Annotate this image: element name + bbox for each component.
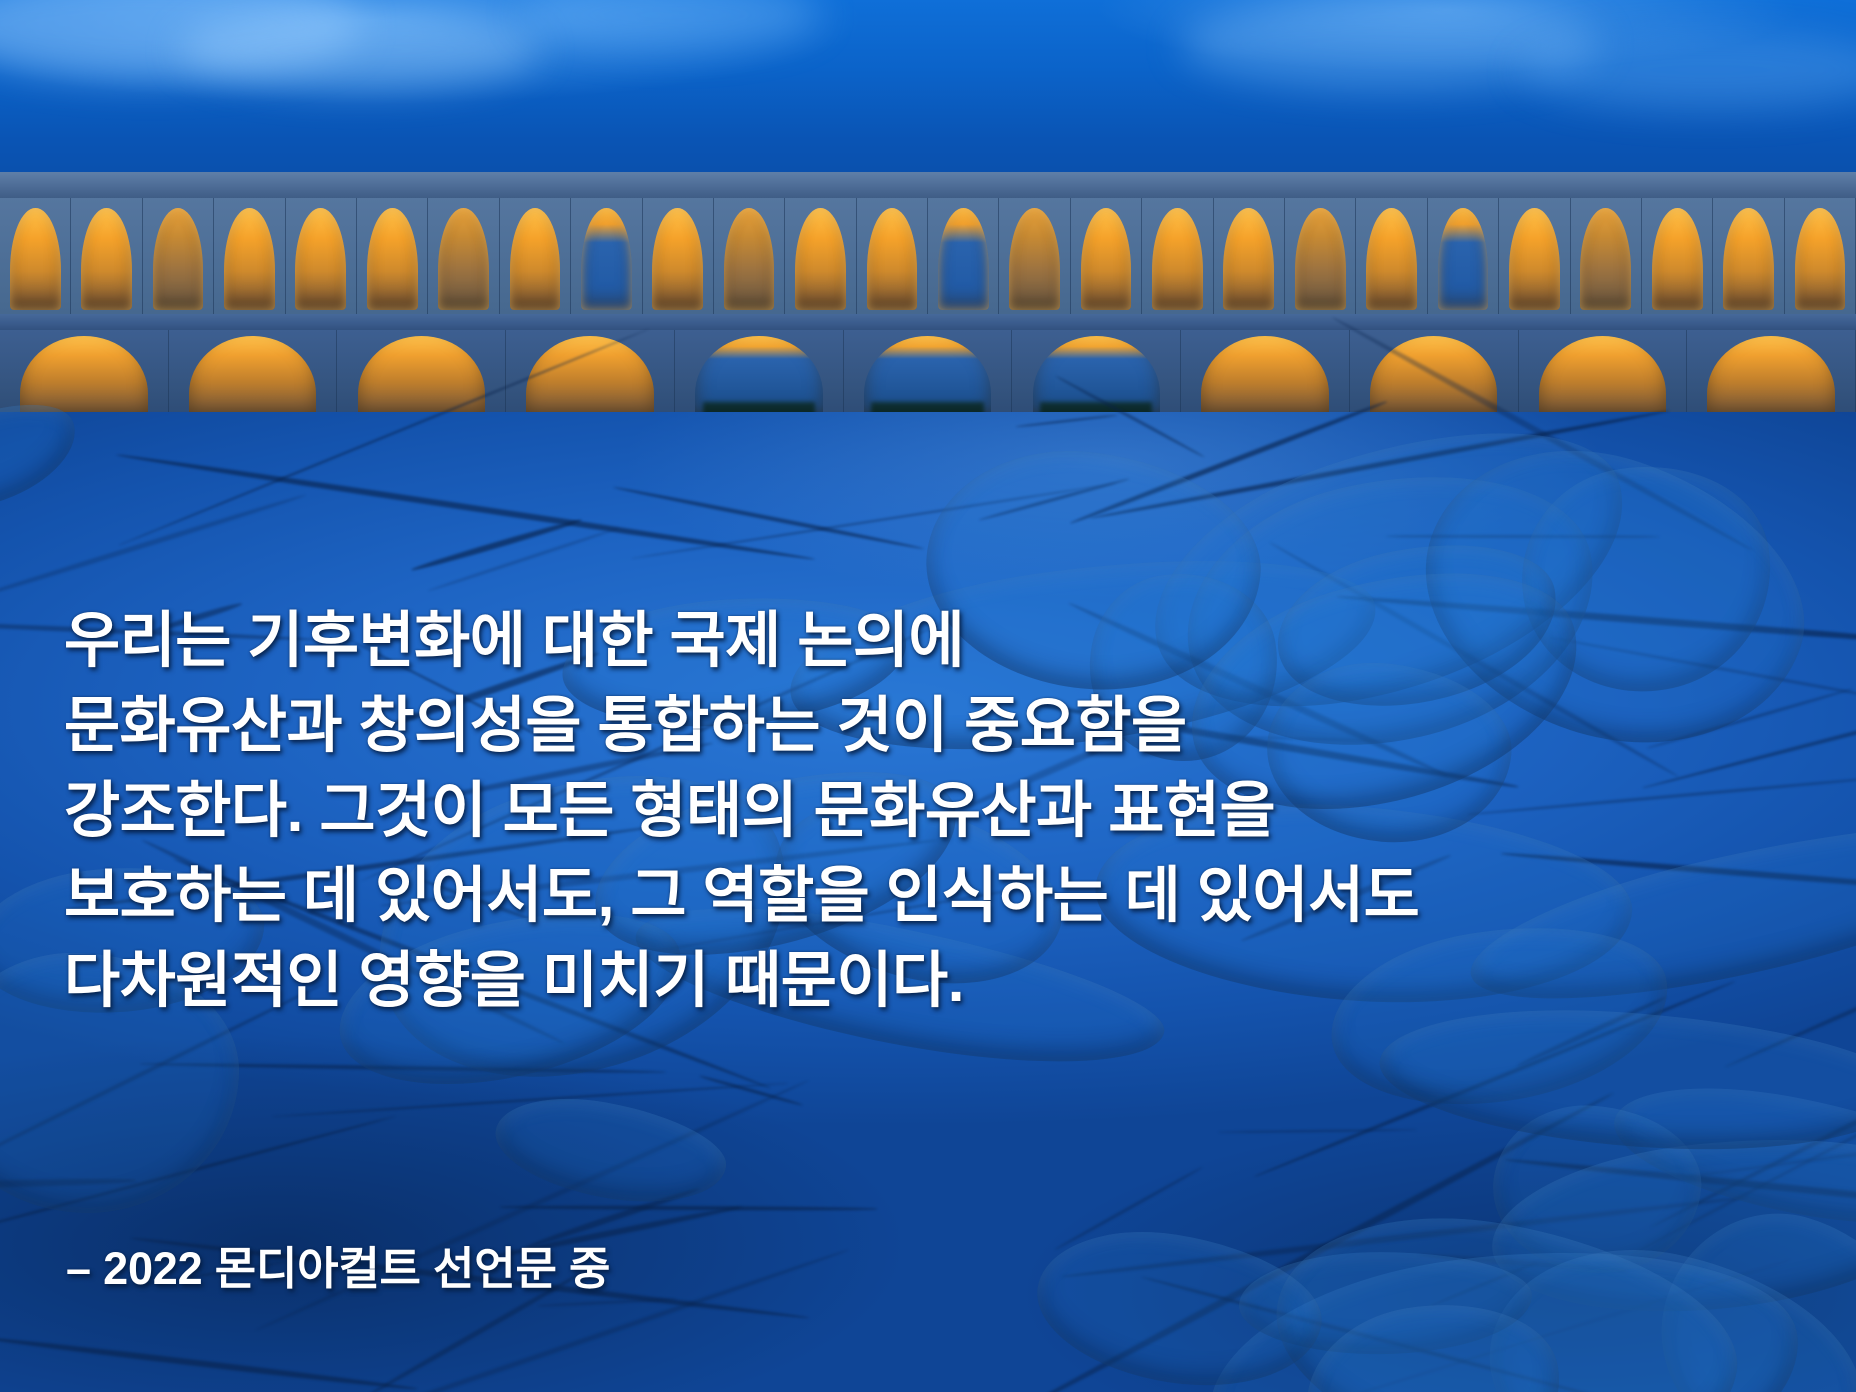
arcade-bay <box>1713 198 1784 314</box>
arcade-bay <box>1356 198 1427 314</box>
bridge-pier <box>337 330 506 424</box>
pointed-arch-opening <box>695 336 822 424</box>
pointed-arch-opening <box>358 336 485 424</box>
bridge-pier <box>844 330 1013 424</box>
pointed-arch-niche <box>1438 208 1489 310</box>
pointed-arch-opening <box>864 336 991 424</box>
arcade-bay <box>1499 198 1570 314</box>
bridge-pier <box>1181 330 1350 424</box>
arcade-bay <box>1142 198 1213 314</box>
arcade-bay <box>928 198 999 314</box>
pointed-arch-opening <box>526 336 653 424</box>
bridge-pier <box>1519 330 1688 424</box>
arcade-bay <box>0 198 71 314</box>
arcade-bay <box>1285 198 1356 314</box>
arcade-bay <box>785 198 856 314</box>
pointed-arch-niche <box>510 208 561 310</box>
pointed-arch-opening <box>1539 336 1666 424</box>
bridge-pier <box>1012 330 1181 424</box>
pointed-arch-niche <box>153 208 204 310</box>
slide-canvas: 우리는 기후변화에 대한 국제 논의에문화유산과 창의성을 통합하는 것이 중요… <box>0 0 1856 1392</box>
pointed-arch-niche <box>367 208 418 310</box>
arcade-bay <box>214 198 285 314</box>
arcade-bay <box>1642 198 1713 314</box>
pointed-arch-niche <box>1223 208 1274 310</box>
pointed-arch-niche <box>1295 208 1346 310</box>
cloud-shape <box>520 0 820 50</box>
arcade-bay <box>143 198 214 314</box>
arcade-bay <box>714 198 785 314</box>
arcade-bay <box>357 198 428 314</box>
pointed-arch-opening <box>189 336 316 424</box>
quote-attribution: – 2022 몬디아컬트 선언문 중 <box>66 1240 610 1298</box>
cloud-shape <box>180 10 540 90</box>
arcade-bay <box>1214 198 1285 314</box>
bridge-mid-ledge <box>0 314 1856 330</box>
pointed-arch-niche <box>224 208 275 310</box>
quote-line: 강조한다. 그것이 모든 형태의 문화유산과 표현을 <box>64 768 1824 853</box>
pointed-arch-niche <box>724 208 775 310</box>
bridge-pier <box>675 330 844 424</box>
pointed-arch-niche <box>1152 208 1203 310</box>
pointed-arch-niche <box>438 208 489 310</box>
quote-text-block: 우리는 기후변화에 대한 국제 논의에문화유산과 창의성을 통합하는 것이 중요… <box>64 598 1824 1023</box>
pointed-arch-niche <box>795 208 846 310</box>
pointed-arch-niche <box>1795 208 1846 310</box>
quote-line: 다차원적인 영향을 미치기 때문이다. <box>64 938 1824 1023</box>
cloud-shape <box>1520 30 1856 110</box>
bridge-structure <box>0 172 1856 424</box>
arcade-bay <box>857 198 928 314</box>
lower-arch-row <box>0 330 1856 424</box>
arcade-bay <box>1071 198 1142 314</box>
arcade-bay <box>286 198 357 314</box>
arcade-bay <box>571 198 642 314</box>
pointed-arch-niche <box>581 208 632 310</box>
bridge-pier <box>1687 330 1856 424</box>
pointed-arch-niche <box>295 208 346 310</box>
arcade-bay <box>428 198 499 314</box>
pointed-arch-niche <box>652 208 703 310</box>
bridge-pier <box>169 330 338 424</box>
arcade-bay <box>1571 198 1642 314</box>
bridge-parapet <box>0 172 1856 198</box>
pointed-arch-niche <box>1580 208 1631 310</box>
quote-line: 문화유산과 창의성을 통합하는 것이 중요함을 <box>64 683 1824 768</box>
pointed-arch-niche <box>1009 208 1060 310</box>
pointed-arch-niche <box>1509 208 1560 310</box>
upper-arcade <box>0 198 1856 314</box>
pointed-arch-opening <box>1033 336 1160 424</box>
pointed-arch-niche <box>938 208 989 310</box>
pointed-arch-niche <box>10 208 61 310</box>
arcade-bay <box>1785 198 1856 314</box>
arcade-bay <box>71 198 142 314</box>
pointed-arch-opening <box>1201 336 1328 424</box>
pointed-arch-niche <box>1723 208 1774 310</box>
arcade-bay <box>1428 198 1499 314</box>
arcade-bay <box>999 198 1070 314</box>
pointed-arch-niche <box>81 208 132 310</box>
sky-background <box>0 0 1856 200</box>
pointed-arch-niche <box>1652 208 1703 310</box>
pointed-arch-niche <box>867 208 918 310</box>
arcade-bay <box>643 198 714 314</box>
arcade-bay <box>500 198 571 314</box>
pointed-arch-opening <box>1707 336 1834 424</box>
pointed-arch-niche <box>1366 208 1417 310</box>
pointed-arch-niche <box>1081 208 1132 310</box>
quote-line: 보호하는 데 있어서도, 그 역할을 인식하는 데 있어서도 <box>64 853 1824 938</box>
quote-line: 우리는 기후변화에 대한 국제 논의에 <box>64 598 1824 683</box>
